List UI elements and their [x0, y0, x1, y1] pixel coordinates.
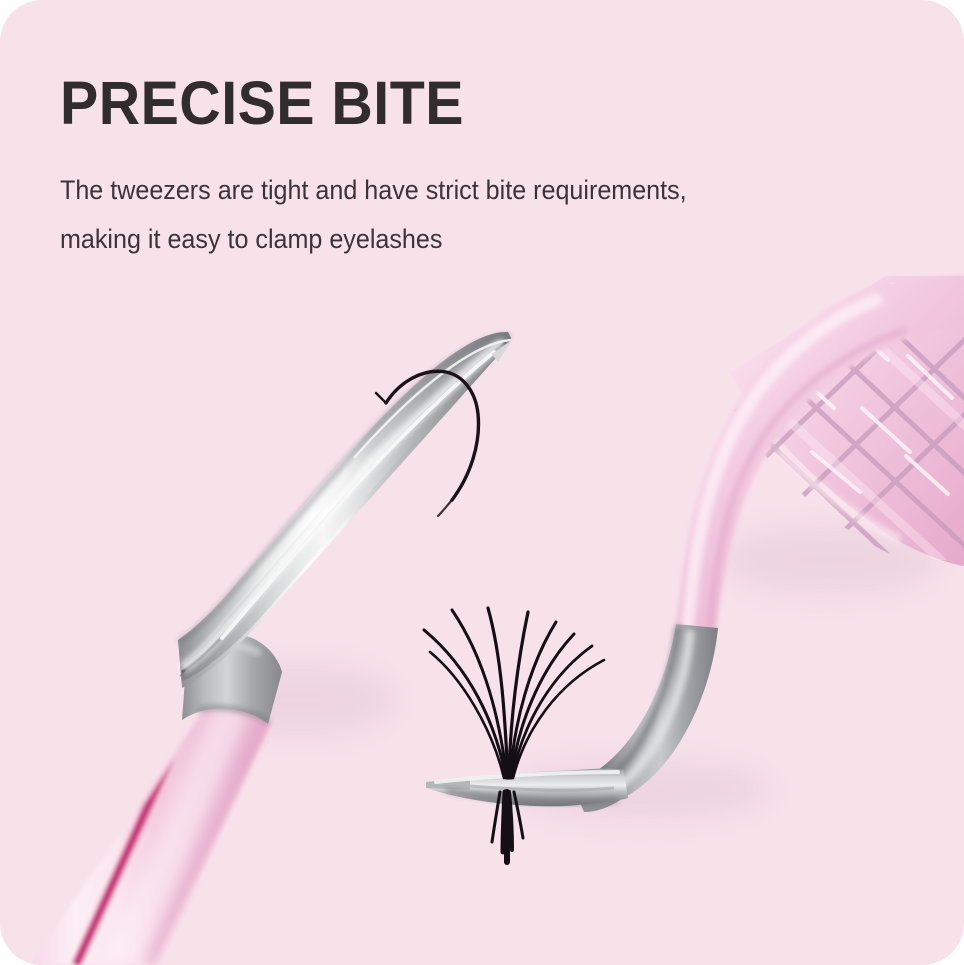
subtitle-line-1: The tweezers are tight and have strict b…: [60, 166, 785, 215]
product-feature-card: PRECISE BITE The tweezers are tight and …: [0, 0, 964, 965]
lash-fan: [424, 608, 604, 862]
subtitle-line-2: making it easy to clamp eyelashes: [60, 215, 785, 264]
right-tweezer: [426, 206, 964, 812]
left-tweezer: [30, 332, 512, 965]
left-tweezer-blade: [178, 332, 512, 688]
subtitle-text: The tweezers are tight and have strict b…: [60, 166, 785, 264]
right-tweezer-tip: [426, 769, 628, 807]
page-title: PRECISE BITE: [60, 72, 793, 134]
text-block: PRECISE BITE The tweezers are tight and …: [60, 72, 840, 264]
left-handle: [30, 698, 300, 965]
